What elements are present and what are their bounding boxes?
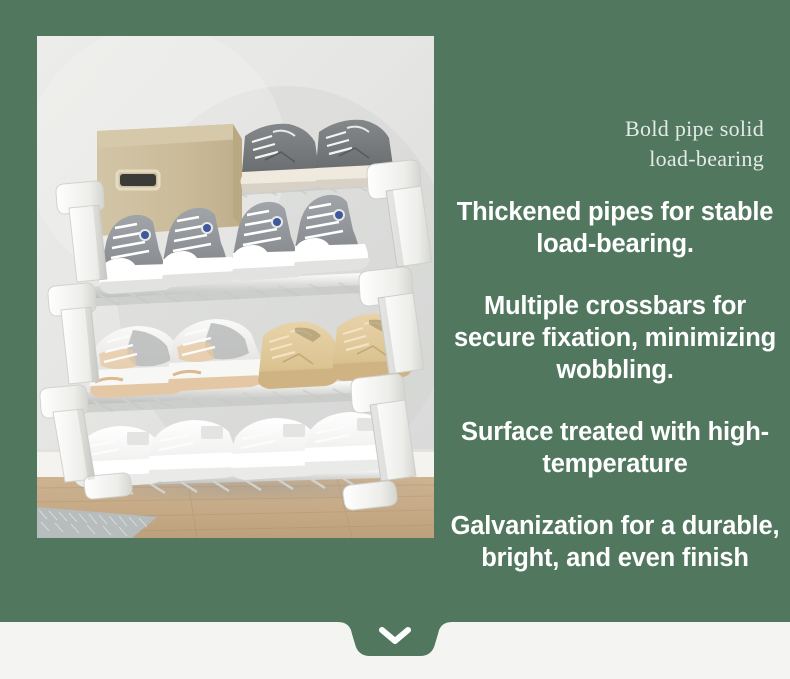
product-photo <box>37 36 434 538</box>
kicker-line-1: Bold pipe solid <box>450 114 764 144</box>
heel-logo-patch <box>127 432 149 445</box>
promo-page: Bold pipe solid load-bearing Thickened p… <box>0 0 790 679</box>
gray-derby-left <box>241 124 321 193</box>
chevron-down-icon <box>382 630 408 641</box>
box-handle <box>120 174 156 186</box>
storage-box <box>97 124 242 236</box>
copy-column: Bold pipe solid load-bearing Thickened p… <box>450 36 780 616</box>
kicker-line-2: load-bearing <box>450 144 764 174</box>
feature-bullet-3: Surface treated with high-temperature <box>450 416 780 480</box>
feature-bullet-1: Thickened pipes for stable load-bearing. <box>450 196 780 260</box>
tan-derby-left <box>258 322 339 389</box>
kicker-heading: Bold pipe solid load-bearing <box>450 114 780 174</box>
feature-bullet-4: Galvanization for a durable, bright, and… <box>450 510 780 574</box>
feature-bullet-2: Multiple crossbars for secure fixation, … <box>450 290 780 386</box>
